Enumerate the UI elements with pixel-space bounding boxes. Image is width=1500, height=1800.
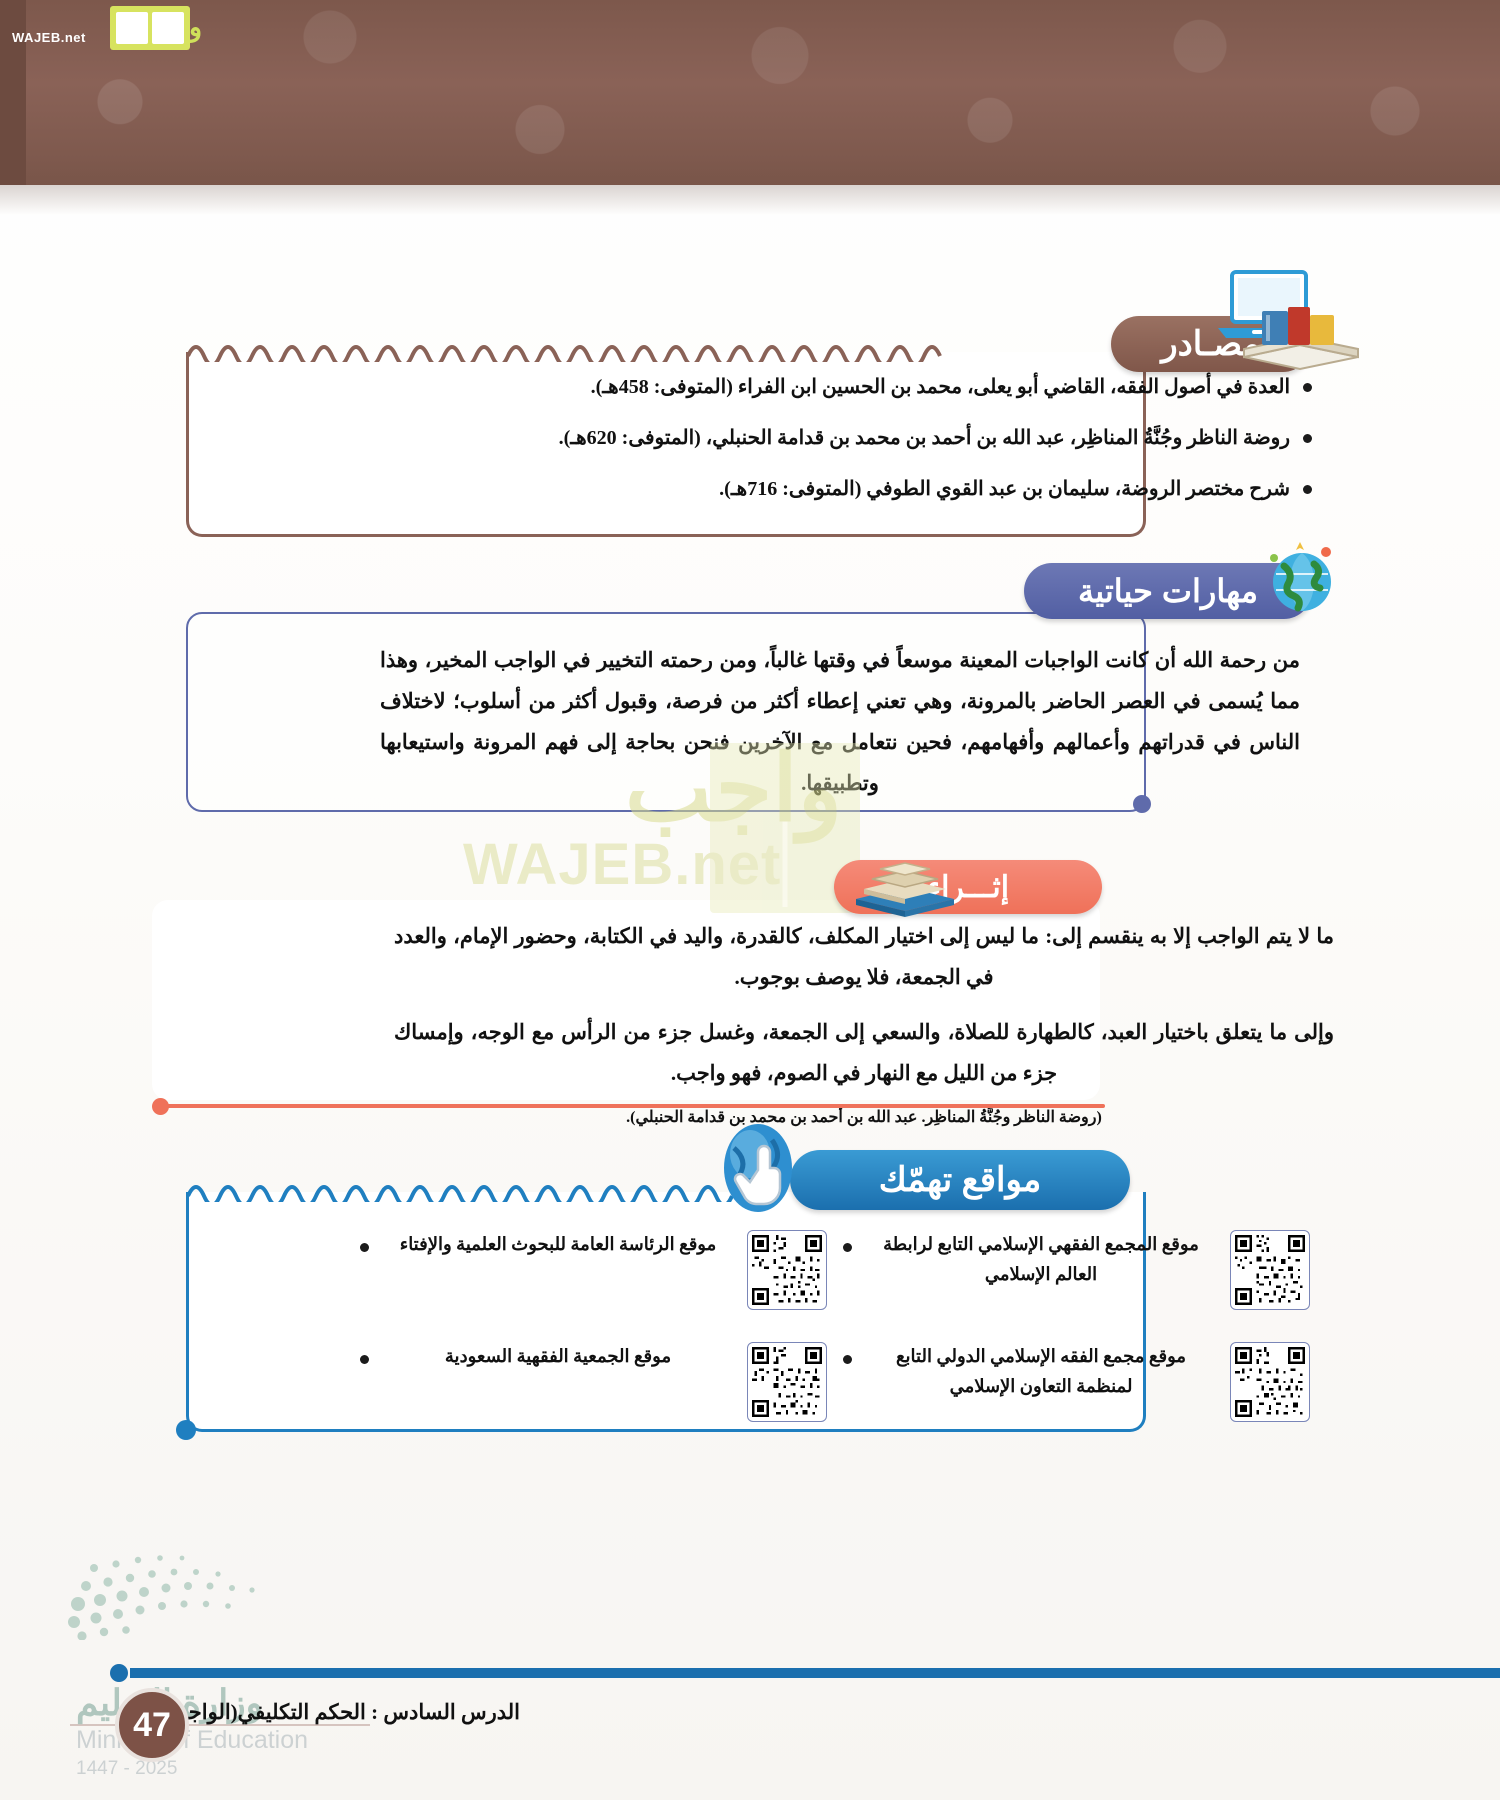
sources-squiggle-divider: [186, 336, 956, 362]
websites-squiggle-divider: [186, 1176, 746, 1202]
enrichment-paragraph-1: ما لا يتم الواجب إلا به ينقسم إلى: ما لي…: [394, 916, 1334, 998]
page-number: 47: [133, 1706, 171, 1745]
lesson-title: الدرس السادس : الحكم التكليفي(الواجب): [161, 1700, 520, 1725]
enrichment-body: ما لا يتم الواجب إلا به ينقسم إلى: ما لي…: [394, 916, 1334, 1133]
website-label: موقع الرئاسة العامة للبحوث العلمية والإف…: [383, 1230, 733, 1260]
websites-grid: موقع المجمع الفقهي الإسلامي التابع لرابط…: [360, 1222, 1310, 1446]
wajeb-logo-subtext: WAJEB.net: [12, 30, 86, 45]
wajeb-corner-logo: واجب WAJEB.net: [6, 2, 202, 52]
life-skills-badge-label: مهارات حياتية: [1078, 572, 1258, 610]
list-item[interactable]: موقع الجمعية الفقهية السعودية: [360, 1334, 827, 1446]
enrichment-divider-dot: [152, 1098, 169, 1115]
header-band-shadow: [0, 185, 1500, 215]
list-item: روضة الناظر وجُنَّةُ المناظِر، عبد الله …: [382, 424, 1312, 452]
qr-code-icon[interactable]: [1230, 1342, 1310, 1422]
bullet-dot: [843, 1355, 852, 1364]
bullet-dot: [1303, 485, 1312, 494]
website-label: موقع الجمعية الفقهية السعودية: [383, 1342, 733, 1372]
websites-badge-label: مواقع تهمّك: [879, 1160, 1041, 1200]
list-item: العدة في أصول الفقه، القاضي أبو يعلى، مح…: [382, 373, 1312, 401]
list-item[interactable]: موقع مجمع الفقه الإسلامي الدولي التابع ل…: [843, 1334, 1310, 1446]
page-number-badge: 47: [115, 1688, 189, 1762]
globe-icon: [1256, 536, 1348, 616]
qr-code-icon[interactable]: [747, 1230, 827, 1310]
bullet-dot: [843, 1243, 852, 1252]
bullet-dot: [360, 1355, 369, 1364]
list-item[interactable]: موقع الرئاسة العامة للبحوث العلمية والإف…: [360, 1222, 827, 1334]
wajeb-book-icon: [110, 6, 190, 50]
enrichment-paragraph-2: وإلى ما يتعلق باختيار العبد، كالطهارة لل…: [394, 1012, 1334, 1094]
bullet-dot: [1303, 434, 1312, 443]
source-text: شرح مختصر الروضة، سليمان بن عبد القوي ال…: [719, 478, 1290, 500]
website-label: موقع المجمع الفقهي الإسلامي التابع لرابط…: [866, 1230, 1216, 1289]
page-header-band: [0, 0, 1500, 185]
source-text: روضة الناظر وجُنَّةُ المناظِر، عبد الله …: [559, 427, 1290, 449]
source-text: العدة في أصول الفقه، القاضي أبو يعلى، مح…: [591, 376, 1290, 398]
websites-endcap-dot: [176, 1420, 196, 1440]
qr-code-icon[interactable]: [747, 1342, 827, 1422]
globe-hand-cursor-icon: [710, 1118, 810, 1218]
list-item[interactable]: موقع المجمع الفقهي الإسلامي التابع لرابط…: [843, 1222, 1310, 1334]
footer-bar-dot: [110, 1664, 128, 1682]
ministry-year: 2025 - 1447: [76, 1758, 177, 1780]
enrichment-divider-rule: [160, 1104, 1105, 1108]
footer-bar: [130, 1668, 1500, 1678]
list-item: شرح مختصر الروضة، سليمان بن عبد القوي ال…: [382, 475, 1312, 503]
quran-book-icon: [850, 845, 960, 921]
bullet-dot: [360, 1243, 369, 1252]
life-skills-endcap-dot: [1133, 795, 1151, 813]
website-label: موقع مجمع الفقه الإسلامي الدولي التابع ل…: [866, 1342, 1216, 1401]
qr-code-icon[interactable]: [1230, 1230, 1310, 1310]
bullet-dot: [1303, 383, 1312, 392]
decorative-dots: [60, 1530, 270, 1640]
textbook-page: واجب WAJEB.net مصـادر العدة في أصول الفق…: [0, 0, 1500, 1800]
life-skills-paragraph: من رحمة الله أن كانت الواجبات المعينة مو…: [380, 640, 1300, 804]
watermark-latin-text: WAJEB.net: [463, 831, 781, 898]
books-stack-icon: [1240, 305, 1362, 375]
sources-list: العدة في أصول الفقه، القاضي أبو يعلى، مح…: [382, 373, 1312, 526]
ministry-name-en: Ministry of Education: [76, 1726, 308, 1755]
websites-badge: مواقع تهمّك: [790, 1150, 1130, 1210]
